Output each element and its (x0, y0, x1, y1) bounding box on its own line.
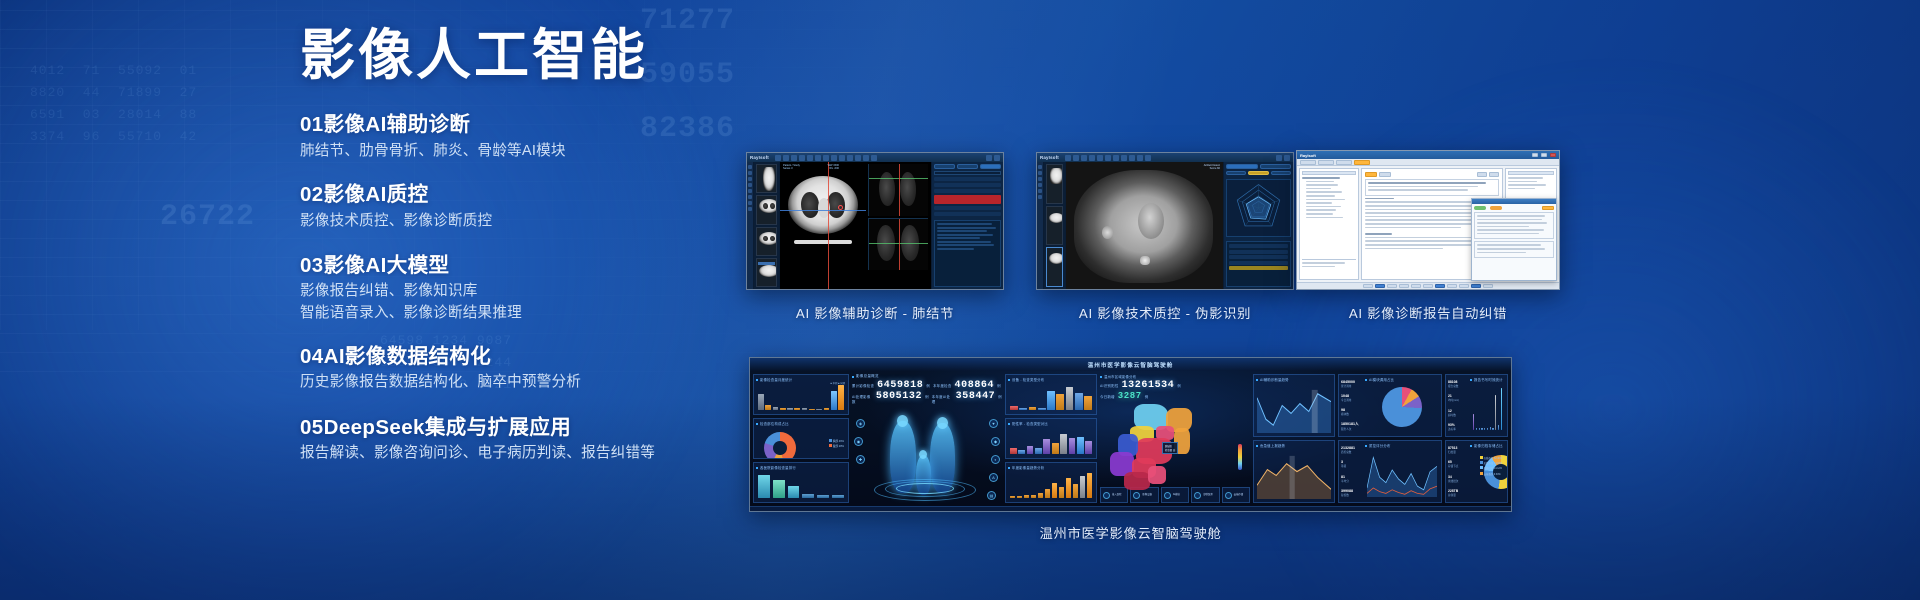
hologram-icon-ai[interactable]: A (989, 473, 998, 482)
rail-icon-user[interactable] (1038, 189, 1042, 193)
footer-btn-template[interactable] (1387, 284, 1397, 289)
hologram-icon-data[interactable]: ▤ (987, 491, 996, 500)
card-ai-module-share[interactable]: 6845000累计调用 1048今日调用 98模块数 1850181人服务人次 … (1338, 374, 1442, 437)
stat-label: 云端存储 (1234, 493, 1244, 496)
hospital-icon (1103, 492, 1110, 499)
feature-desc-line: 影像技术质控、影像诊断质控 (300, 211, 720, 232)
feature-desc-line: 智能语音录入、影像诊断结果推理 (300, 303, 720, 324)
minimize-icon[interactable] (1532, 153, 1538, 157)
card-title: 年度影像量趋势分析 (1008, 465, 1094, 470)
feature-label-03: 影像AI大模型 (324, 254, 450, 277)
feature-item-05: 05DeepSeek集成与扩展应用 报告解读、影像咨询问诊、电子病历判读、报告纠… (300, 415, 720, 465)
series-thumbnail-list[interactable] (754, 162, 780, 289)
ai-result-panel[interactable] (931, 162, 1003, 289)
rail-icon-crop[interactable] (748, 201, 752, 205)
stat-button-doctors[interactable]: 诊断医师 (1191, 487, 1219, 503)
btn-save[interactable] (1379, 172, 1391, 177)
lung-field-left (801, 192, 819, 218)
kpi-unit-1: 例 (997, 383, 1001, 388)
feature-title-02: 02影像AI质控 (300, 182, 720, 208)
status-badge-pass (1474, 206, 1486, 210)
toolbar-icon-layout[interactable] (1121, 155, 1127, 161)
card-storage-share[interactable]: 87513归档量 65存储节点 34离线批次 228TB总容量 影像归档存储占比… (1445, 440, 1508, 503)
app-logo: RayIsoft (1040, 155, 1063, 160)
status-badge-warn (1490, 206, 1502, 210)
ai-report-text (934, 220, 1001, 287)
card-title: 危急值上报趋势 (1256, 443, 1332, 448)
toolbar-icon-pan[interactable] (791, 155, 797, 161)
feature-desc-line: 报告解读、影像咨询问诊、电子病历判读、报告纠错等 (300, 443, 720, 464)
dashboard-column-map: 温州市区域影像分布 AI识别阳性 13261534 例 今日新增 3287 例 (1100, 374, 1250, 503)
artifact-region (1102, 226, 1113, 239)
card-title: 阳性率 - 检查类型对比 (1008, 421, 1094, 426)
kpi-label-5: 今日新增 (1100, 394, 1115, 399)
thumbnail-qc-3[interactable] (1046, 247, 1063, 287)
app-logo: RayIsoft (750, 155, 773, 160)
bar-chart-turnaround (1473, 386, 1502, 430)
toolbar-icon-measure[interactable] (807, 155, 813, 161)
report-tree-panel[interactable] (1299, 168, 1359, 280)
feature-title-03: 03影像AI大模型 (300, 253, 720, 279)
toolbar-icon-pointer[interactable] (775, 155, 781, 161)
toolbar-icon-window[interactable] (1089, 155, 1095, 161)
overlay-study-info: Artifact DetectScore 82 (1204, 164, 1220, 171)
toolbar-icon-layout[interactable] (831, 155, 837, 161)
rail-icon-wwwl[interactable] (748, 171, 752, 175)
maximize-icon[interactable] (1541, 153, 1547, 157)
bar-chart-hospital (758, 472, 844, 498)
settings-icon[interactable] (1276, 155, 1282, 161)
kpi-label-4: AI识别阳性 (1100, 383, 1119, 388)
tree-detail-box (1302, 259, 1356, 277)
footer-btn-insert[interactable] (1399, 284, 1409, 289)
ai-correction-popup[interactable] (1471, 198, 1557, 281)
dashboard-column-pie: 6845000累计调用 1048今日调用 98模块数 1850181人服务人次 … (1338, 374, 1442, 503)
qc-filter-pass[interactable] (1248, 171, 1268, 175)
coronal-view[interactable] (868, 164, 928, 216)
stat-button-ai-modules[interactable]: AI模块 (1161, 487, 1189, 503)
template-search-input[interactable] (1508, 171, 1554, 175)
toolbar-icon-print[interactable] (863, 155, 869, 161)
dashboard-header: 温州市医学影像云智脑驾驶舱 (750, 358, 1511, 371)
report-tabbar[interactable] (1297, 159, 1559, 166)
dashboard-title: 温州市医学影像云智脑驾驶舱 (1088, 361, 1174, 369)
dashboard-footer (750, 506, 1511, 511)
head-right (937, 417, 948, 429)
feature-desc-line: 肺结节、肋骨骨折、肺炎、骨龄等AI模块 (300, 141, 720, 162)
dashboard-grid: 影像检查量月度统计 ■ 本期 ■ 同期 (750, 371, 1511, 506)
qc-viewer-window: RayIsoft (1037, 153, 1293, 289)
kpi-unit-0: 例 (926, 383, 930, 388)
panel-tab-report[interactable] (980, 164, 1001, 169)
page-title: 影像人工智能 (300, 26, 720, 84)
panel-tab-nodule[interactable] (957, 164, 978, 169)
feature-desc-01: 肺结节、肋骨骨折、肺炎、骨龄等AI模块 (300, 141, 720, 162)
btn-sign[interactable] (1489, 172, 1499, 177)
map-section[interactable]: 温州市区域影像分布 AI识别阳性 13261534 例 今日新增 3287 例 (1100, 374, 1250, 484)
toolbar-icon-measure[interactable] (1097, 155, 1103, 161)
screenshot-ai-quality-control[interactable]: RayIsoft (1036, 152, 1294, 290)
card-title: 影像归档存储占比 (1470, 443, 1505, 448)
dashboard-column-left: 影像检查量月度统计 ■ 本期 ■ 同期 (753, 374, 849, 503)
qc-primary-view[interactable]: Artifact DetectScore 82 (1066, 162, 1223, 289)
spine-marker (1140, 256, 1150, 265)
screenshot-imaging-cloud-dashboard[interactable]: 温州市医学影像云智脑驾驶舱 影像检查量月度统计 ■ 本期 ■ 同期 (749, 357, 1512, 512)
nodule-row[interactable] (934, 177, 1001, 181)
kpi-value-0: 6459818 (877, 380, 923, 391)
line-chart-qc-score (1367, 452, 1437, 497)
viewer-body: Patient / StudySeries 3 WW 1500WL -600 (747, 162, 1003, 289)
thumbnail-qc-1[interactable] (1046, 164, 1063, 204)
kpi-block: 影像总量概览 累计影像检查 6459818 例 本年度检查 408864 例 A… (852, 374, 1002, 404)
footer-btn-submit[interactable] (1447, 284, 1457, 289)
hologram-icon-kidney[interactable]: ◐ (991, 455, 1000, 464)
kpi-value-5: 3287 (1118, 391, 1142, 401)
close-icon[interactable] (1550, 153, 1556, 157)
rail-icon-chart[interactable] (1038, 183, 1042, 187)
feature-desc-03: 影像报告纠错、影像知识库 智能语音录入、影像诊断结果推理 (300, 281, 720, 323)
screenshot-report-auto-correction[interactable]: RayIsoft (1296, 150, 1560, 290)
stat-label: 接入医院 (1112, 493, 1122, 496)
dashboard-column-right: 88108报告总数 21均时(min) 12超时数 93%达标率 报告书写时效统… (1445, 374, 1508, 503)
toolbar-icon-roi[interactable] (1105, 155, 1111, 161)
card-title: 各医院影像检查量排行 (756, 465, 846, 470)
toolbar-icon-invert[interactable] (1137, 155, 1143, 161)
storage-legend: 在线存储 52.40% 近线存储 24.18% 离线归档 14.12% 云端备份… (1480, 456, 1502, 477)
card-critical-value-trend[interactable]: 危急值上报趋势 (1253, 440, 1335, 503)
feature-desc-line: 影像报告纠错、影像知识库 (300, 281, 720, 302)
region-map[interactable]: 鹿城区检查量 高 (1104, 404, 1246, 480)
rail-icon-text[interactable] (748, 195, 752, 199)
caption-shot3: AI 影像诊断报告自动纠错 (1296, 303, 1560, 322)
kpi-value-2: 5805132 (876, 391, 922, 402)
toolbar-icon-zoom[interactable] (783, 155, 789, 161)
hologram-icon-heart[interactable]: ♥ (989, 419, 998, 428)
toolbar-icon-window[interactable] (799, 155, 805, 161)
qc-tab-artifact[interactable] (1260, 164, 1292, 169)
thumbnail-axial-1[interactable] (756, 195, 777, 224)
app-logo: RayIsoft (1300, 153, 1316, 158)
stat-label: 诊断医师 (1203, 493, 1213, 496)
report-action-bar[interactable] (1365, 172, 1499, 177)
popup-titlebar (1472, 199, 1556, 204)
toolbar-icon-annotate[interactable] (1113, 155, 1119, 161)
qc-result-panel[interactable] (1223, 162, 1293, 289)
card-body-part-composition[interactable]: 检查部位构成占比 胸部 46% 腹部 28% (753, 418, 849, 459)
primary-axial-view[interactable]: Patient / StudySeries 3 WW 1500WL -600 (780, 162, 931, 289)
crosshair-horizontal (780, 210, 866, 211)
stat-button-row: 接入医院 影像设备 AI模块 诊断医师 (1100, 487, 1250, 503)
qc-body: Artifact DetectScore 82 (1037, 162, 1293, 289)
feature-label-01: 影像AI辅助诊断 (324, 113, 471, 136)
tree-search-input[interactable] (1302, 171, 1356, 175)
toolbar-icon-pointer[interactable] (1065, 155, 1071, 161)
patient-header-table (1365, 179, 1499, 196)
toolbar-icon-annotate[interactable] (823, 155, 829, 161)
card-qc-score-distribution[interactable]: 2132881质控总数 3等级 81平均分 399088复核数 质控评分分布 (1338, 440, 1442, 503)
popup-apply-button[interactable] (1542, 206, 1554, 210)
kpi-unit-4: 例 (1177, 383, 1181, 388)
radar-svg (1227, 180, 1290, 236)
storage-kpi-list: 87513归档量 65存储节点 34离线批次 228TB总容量 (1448, 443, 1470, 500)
rail-icon-arrow[interactable] (748, 189, 752, 193)
feature-desc-line: 历史影像报告数据结构化、脑卒中预警分析 (300, 372, 720, 393)
feature-title-05: 05DeepSeek集成与扩展应用 (300, 415, 720, 441)
dashboard-window: 温州市医学影像云智脑驾驶舱 影像检查量月度统计 ■ 本期 ■ 同期 (750, 358, 1511, 511)
tool-rail[interactable] (747, 162, 754, 289)
map-region-cangnan[interactable] (1124, 472, 1150, 490)
card-monthly-exam-volume[interactable]: 影像检查量月度统计 ■ 本期 ■ 同期 (753, 374, 849, 415)
pie-chart-ai-module (1382, 387, 1422, 427)
feature-title-04: 04AI影像数据结构化 (300, 344, 720, 370)
dashboard-column-bars: 设备 - 检查类型分布 阳性率 - 检查类型对比 (1005, 374, 1097, 503)
line-chart-critical (1257, 450, 1331, 499)
correction-suggestion-2[interactable] (1474, 241, 1554, 258)
feature-label-04: AI影像数据结构化 (324, 345, 492, 368)
btn-ai-correct[interactable] (1365, 172, 1377, 177)
feature-item-02: 02影像AI质控 影像技术质控、影像诊断质控 (300, 182, 720, 232)
ai-module-kpi-list: 6845000累计调用 1048今日调用 98模块数 1850181人服务人次 (1341, 377, 1365, 434)
close-icon[interactable] (994, 155, 1000, 161)
hologram-icon-brain[interactable]: ◈ (856, 419, 865, 428)
report-titlebar: RayIsoft (1297, 151, 1559, 159)
map-colorbar (1238, 444, 1242, 470)
caption-dashboard: 温州市医学影像云智脑驾驶舱 (749, 523, 1512, 542)
dashboard-column-hologram: 影像总量概览 累计影像检查 6459818 例 本年度检查 408864 例 A… (852, 374, 1002, 503)
toolbar-icon-export[interactable] (1145, 155, 1151, 161)
stat-button-storage[interactable]: 云端存储 (1222, 487, 1250, 503)
table-support-bar (794, 240, 852, 244)
card-title: 设备 - 检查类型分布 (1008, 377, 1094, 382)
stat-label: 影像设备 (1142, 493, 1152, 496)
device-icon (1133, 492, 1140, 499)
rail-icon-series[interactable] (748, 165, 752, 169)
bar-chart-positive (1010, 428, 1092, 454)
stat-button-hospitals[interactable]: 接入医院 (1100, 487, 1128, 503)
feature-item-03: 03影像AI大模型 影像报告纠错、影像知识库 智能语音录入、影像诊断结果推理 (300, 253, 720, 324)
btn-print[interactable] (1477, 172, 1487, 177)
nodule-row[interactable] (934, 183, 1001, 187)
toolbar-icon-mpr[interactable] (839, 155, 845, 161)
screenshot-ai-assisted-diagnosis[interactable]: RayIsoft (746, 152, 1004, 290)
bar-chart-monthly (758, 384, 844, 410)
toolbar-icon-zoom[interactable] (1073, 155, 1079, 161)
kpi-unit-3: 例 (998, 394, 1002, 399)
footer-btn-next[interactable] (1459, 284, 1469, 289)
bar-chart-annual (1010, 472, 1092, 498)
thumbnail-scout[interactable] (756, 164, 777, 193)
toolbar-icon-pan[interactable] (1081, 155, 1087, 161)
rail-icon-reset[interactable] (748, 207, 752, 211)
hologram-icon-bone[interactable]: ✚ (856, 455, 865, 464)
kpi-unit-5: 例 (1145, 394, 1149, 399)
qc-kpi-list: 2132881质控总数 3等级 81平均分 399088复核数 (1341, 443, 1365, 500)
card-title: 检查部位构成占比 (756, 421, 846, 426)
line-chart-ai-trend (1257, 384, 1331, 433)
feature-number-05: 05 (300, 416, 324, 439)
cloud-icon (1225, 492, 1232, 499)
report-footer-toolbar[interactable] (1297, 282, 1559, 289)
donut-chart-body-part (764, 432, 796, 459)
overlay-patient-info: Patient / StudySeries 3 (783, 164, 800, 171)
thumbnail-qc-2[interactable] (1046, 206, 1063, 246)
feature-number-01: 01 (300, 113, 324, 136)
footer-btn-clear[interactable] (1411, 284, 1421, 289)
card-hospital-ranking[interactable]: 各医院影像检查量排行 (753, 462, 849, 503)
qc-filter-all[interactable] (1226, 171, 1246, 175)
map-region-longgang[interactable] (1148, 466, 1166, 484)
toolbar-icon-invert[interactable] (855, 155, 861, 161)
rail-icon-ruler[interactable] (748, 183, 752, 187)
card-positive-rate[interactable]: 阳性率 - 检查类型对比 (1005, 418, 1097, 459)
nodule-search-input[interactable] (934, 171, 1001, 175)
feature-item-01: 01影像AI辅助诊断 肺结节、肋骨骨折、肺炎、骨龄等AI模块 (300, 112, 720, 162)
thumbnail-axial-3[interactable] (756, 258, 777, 287)
tab-history-report[interactable] (1336, 160, 1352, 165)
ai-icon (1164, 492, 1171, 499)
heart-shadow (1138, 203, 1164, 239)
qc-tab-overview[interactable] (1226, 164, 1258, 169)
feature-desc-05: 报告解读、影像咨询问诊、电子病历判读、报告纠错等 (300, 443, 720, 464)
footer-btn-sign[interactable] (1471, 284, 1481, 289)
toolbar-icon-compare[interactable] (1129, 155, 1135, 161)
donut-legend: 胸部 46% 腹部 28% (829, 439, 844, 449)
ct-viewer-window: RayIsoft (747, 153, 1003, 289)
feature-desc-02: 影像技术质控、影像诊断质控 (300, 211, 720, 232)
feature-label-02: 影像AI质控 (324, 183, 429, 206)
card-title: 报告书写时效统计 (1470, 377, 1505, 382)
nodule-row-alert[interactable] (934, 195, 1001, 204)
crosshair-vertical (828, 162, 829, 289)
qc-thumbnail-list[interactable] (1044, 162, 1066, 289)
hero-text-column: 影像人工智能 01影像AI辅助诊断 肺结节、肋骨骨折、肺炎、骨龄等AI模块 02… (300, 26, 720, 464)
qc-findings-list[interactable] (1226, 241, 1291, 287)
card-device-exam-type[interactable]: 设备 - 检查类型分布 (1005, 374, 1097, 415)
viewer-toolbar[interactable]: RayIsoft (747, 153, 1003, 162)
rail-icon-worklist[interactable] (1038, 165, 1042, 169)
kpi-label-3: 本年度AI处理 (932, 394, 953, 404)
kpi-value-1: 408864 (955, 380, 995, 391)
toolbar-icon-3d[interactable] (847, 155, 853, 161)
correction-suggestion-1[interactable] (1474, 212, 1554, 240)
hologram-family-visual: ◈ ◉ ✚ ♥ ◆ ◐ A ▤ (852, 407, 1002, 503)
nodule-marker[interactable] (838, 205, 843, 210)
rail-icon-roi[interactable] (748, 177, 752, 181)
feature-item-04: 04AI影像数据结构化 历史影像报告数据结构化、脑卒中预警分析 (300, 344, 720, 394)
rail-icon-filter[interactable] (1038, 171, 1042, 175)
feature-desc-04: 历史影像报告数据结构化、脑卒中预警分析 (300, 372, 720, 393)
qc-tool-rail[interactable] (1037, 162, 1044, 289)
head-child (919, 450, 927, 459)
feature-label-05: DeepSeek集成与扩展应用 (324, 416, 572, 439)
close-icon[interactable] (1284, 155, 1290, 161)
feature-number-02: 02 (300, 183, 324, 206)
panel-tab-series[interactable] (934, 164, 955, 169)
qc-toolbar[interactable]: RayIsoft (1037, 153, 1293, 162)
overlay-window-level: WW 1500WL -600 (828, 164, 839, 171)
card-title: AI辅助诊断量趋势 (1256, 377, 1332, 382)
kpi-label-0: 累计影像检查 (852, 383, 874, 388)
caption-shot1: AI 影像辅助诊断 - 肺结节 (746, 303, 1004, 322)
footer-btn-prev[interactable] (1363, 284, 1373, 289)
nodule-row[interactable] (934, 206, 1001, 210)
kpi-label-2: AI处理影像数 (852, 394, 873, 404)
feature-number-03: 03 (300, 254, 324, 277)
doctor-icon (1194, 492, 1201, 499)
qc-radar-chart (1226, 179, 1291, 237)
footer-btn-correct[interactable] (1375, 284, 1385, 289)
rail-icon-gear[interactable] (1038, 195, 1042, 199)
toolbar-icon-angle[interactable] (815, 155, 821, 161)
footer-btn-history[interactable] (1423, 284, 1433, 289)
toolbar-icon-export[interactable] (871, 155, 877, 161)
hologram-icon-liver[interactable]: ◆ (991, 437, 1000, 446)
head-left (897, 415, 908, 427)
dashboard-column-lines: AI辅助诊断量趋势 危急值上报趋势 (1253, 374, 1335, 503)
card-title: AI模块调用占比 (1365, 377, 1439, 382)
card-ai-diagnosis-trend[interactable]: AI辅助诊断量趋势 (1253, 374, 1335, 437)
card-report-turnaround[interactable]: 88108报告总数 21均时(min) 12超时数 93%达标率 报告书写时效统… (1445, 374, 1508, 437)
diagnosis-tree[interactable] (1302, 177, 1356, 259)
tab-exam-request[interactable] (1318, 160, 1334, 165)
rail-icon-flag[interactable] (1038, 177, 1042, 181)
footer-btn-save[interactable] (1435, 284, 1445, 289)
qc-filter-fail[interactable] (1271, 171, 1291, 175)
settings-icon[interactable] (986, 155, 992, 161)
feature-title-01: 01影像AI辅助诊断 (300, 112, 720, 138)
kpi-value-4: 13261534 (1122, 380, 1175, 391)
kpi-unit-2: 例 (925, 394, 929, 399)
hologram-icon-lung[interactable]: ◉ (854, 437, 863, 446)
report-kpi-list: 88108报告总数 21均时(min) 12超时数 93%达标率 (1448, 377, 1470, 434)
kpi-value-3: 358447 (956, 391, 996, 402)
kpi-label-1: 本年度检查 (933, 383, 951, 388)
stat-label: AI模块 (1173, 493, 1180, 496)
nodule-row[interactable] (934, 189, 1001, 193)
tab-patient-info[interactable] (1300, 160, 1316, 165)
hologram-ring-inner (896, 483, 954, 494)
report-editor-window: RayIsoft (1297, 151, 1559, 289)
card-annual-trend[interactable]: 年度影像量趋势分析 (1005, 462, 1097, 503)
feature-number-04: 04 (300, 345, 324, 368)
nodule-row[interactable] (934, 212, 1001, 216)
card-title: 质控评分分布 (1365, 443, 1439, 448)
thumbnail-axial-2[interactable] (756, 227, 777, 256)
map-tooltip: 鹿城区检查量 高 (1162, 442, 1178, 454)
kpi-section-title: 影像总量概览 (852, 374, 1002, 379)
bar-chart-device (1010, 384, 1092, 410)
tab-report-correction[interactable] (1354, 160, 1370, 165)
map-title: 温州市区域影像分布 (1100, 374, 1250, 379)
caption-shot2: AI 影像技术质控 - 伪影识别 (1036, 303, 1294, 322)
footer-btn-close[interactable] (1483, 284, 1493, 289)
sagittal-view[interactable] (868, 218, 928, 270)
